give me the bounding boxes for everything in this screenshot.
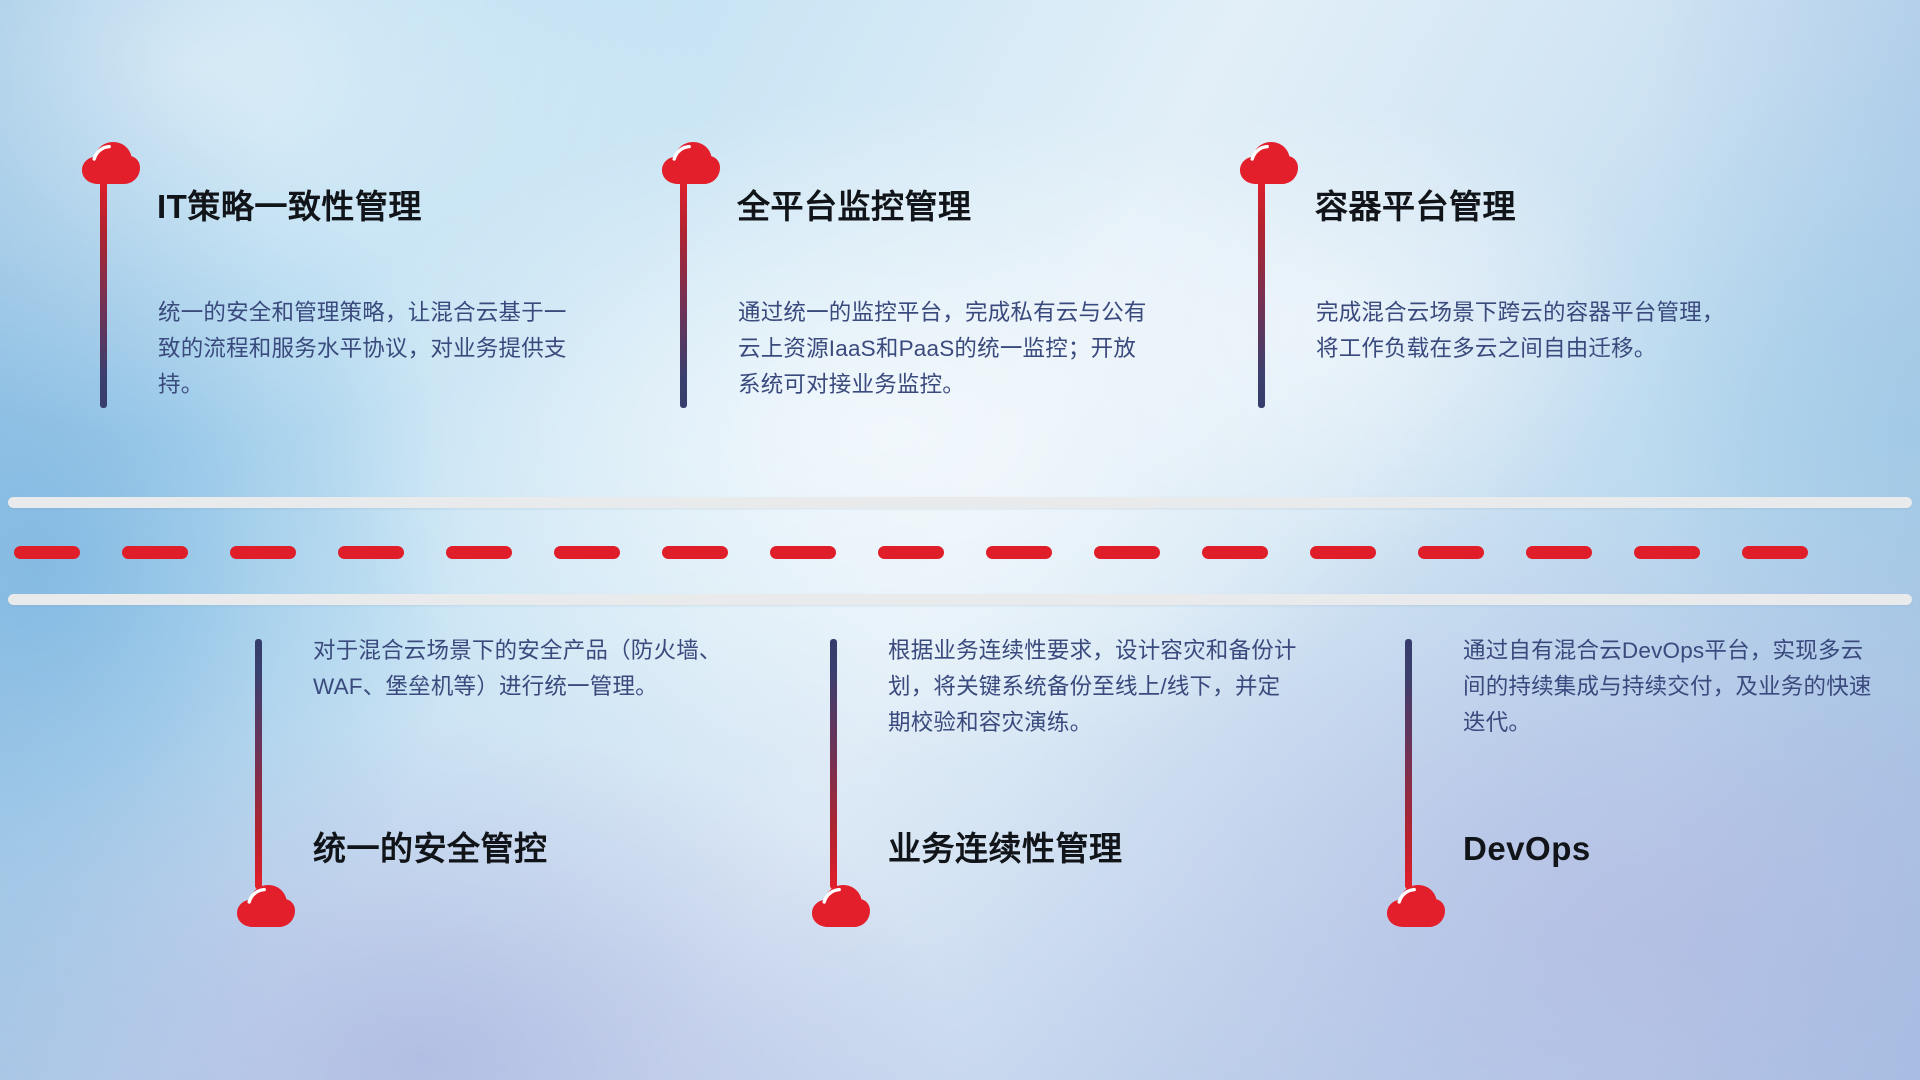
divider-dash [1742,546,1808,559]
bottom-heading-2: 业务连续性管理 [888,829,1123,869]
bottom-body-3: 通过自有混合云DevOps平台，实现多云间的持续集成与持续交付，及业务的快速迭代… [1463,633,1873,741]
bottom-body-1: 对于混合云场景下的安全产品（防火墙、WAF、堡垒机等）进行统一管理。 [313,633,723,705]
top-heading-2: 全平台监控管理 [737,187,972,227]
divider-dash [230,546,296,559]
divider-dashed-line [0,545,1920,559]
connector-line [100,178,107,408]
divider-dash [446,546,512,559]
cloud-icon [660,140,722,186]
divider-dash [14,546,80,559]
connector-line [255,639,262,889]
infographic-canvas: IT策略一致性管理 统一的安全和管理策略，让混合云基于一致的流程和服务水平协议，… [0,0,1920,1080]
divider-dash [122,546,188,559]
divider-rail-top [8,497,1912,508]
top-heading-1: IT策略一致性管理 [157,187,422,227]
bottom-heading-1: 统一的安全管控 [313,829,548,869]
connector-line [1258,178,1265,408]
divider-dash [1526,546,1592,559]
divider-dash [986,546,1052,559]
bottom-body-2: 根据业务连续性要求，设计容灾和备份计划，将关键系统备份至线上/线下，并定期校验和… [888,633,1298,741]
divider-dash [1202,546,1268,559]
divider-dash [770,546,836,559]
divider-dash [1310,546,1376,559]
cloud-icon [80,140,142,186]
connector-line [830,639,837,889]
bottom-heading-3: DevOps [1463,829,1591,869]
divider-dash [1418,546,1484,559]
divider-rail-bottom [8,594,1912,605]
top-body-3: 完成混合云场景下跨云的容器平台管理，将工作负载在多云之间自由迁移。 [1316,295,1726,367]
connector-line [680,178,687,408]
divider-dash [878,546,944,559]
connector-line [1405,639,1412,889]
cloud-icon [1385,883,1447,929]
divider-dash [1094,546,1160,559]
top-heading-3: 容器平台管理 [1315,187,1516,227]
divider-dash [1634,546,1700,559]
cloud-icon [235,883,297,929]
cloud-icon [810,883,872,929]
divider-dash [338,546,404,559]
divider-dash [554,546,620,559]
top-body-1: 统一的安全和管理策略，让混合云基于一致的流程和服务水平协议，对业务提供支持。 [158,295,568,403]
top-body-2: 通过统一的监控平台，完成私有云与公有云上资源IaaS和PaaS的统一监控；开放系… [738,295,1148,403]
divider-dash [662,546,728,559]
cloud-icon [1238,140,1300,186]
